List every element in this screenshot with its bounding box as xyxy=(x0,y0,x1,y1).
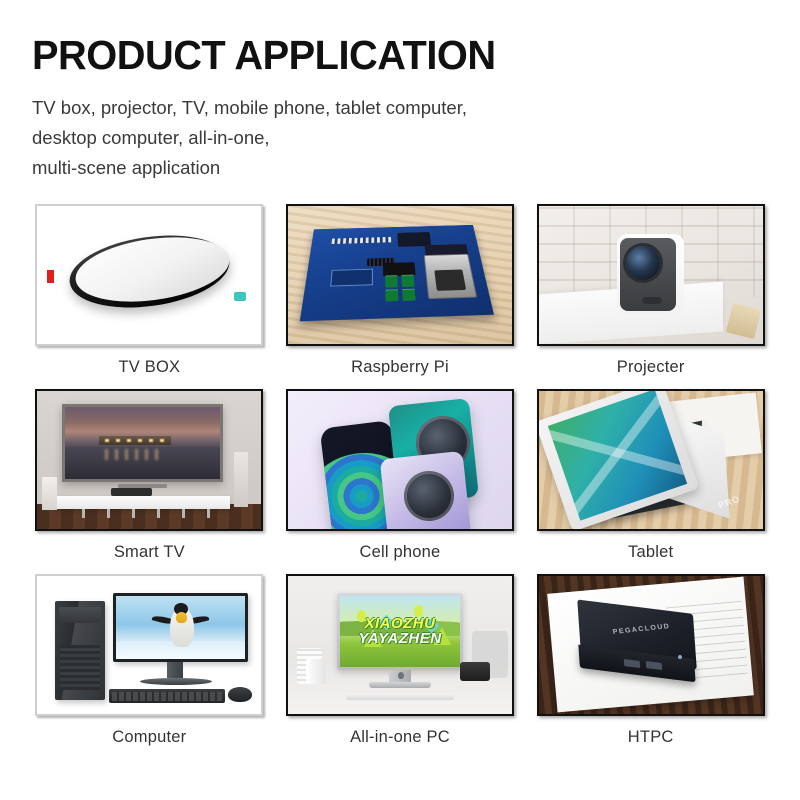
projector-sensor xyxy=(642,297,662,304)
keyboard xyxy=(109,689,225,703)
console-legs xyxy=(60,509,226,519)
tv-box-photo xyxy=(35,204,263,346)
tablet-photo: PRO xyxy=(537,389,765,531)
green-terminal-1 xyxy=(385,276,398,289)
gallery-caption-raspberry-pi: Raspberry Pi xyxy=(351,358,449,377)
pcb-board xyxy=(300,225,494,322)
monitor-stand-base xyxy=(140,678,212,685)
smart-tv-illustration xyxy=(37,391,261,529)
gallery-item-htpc[interactable]: PEGACLOUD HTPC xyxy=(529,574,772,759)
power-led-icon xyxy=(678,655,682,659)
gallery-item-tablet[interactable]: PRO Tablet xyxy=(529,389,772,574)
gallery-caption-tv-box: TV BOX xyxy=(118,358,180,377)
screen-reflection xyxy=(105,449,164,461)
desk-camera xyxy=(460,662,489,681)
smart-tv-photo xyxy=(35,389,263,531)
tv-box-teal-indicator xyxy=(234,292,246,301)
aio-screen-content: XIAOZHU YAYAZHEN xyxy=(340,596,459,667)
cell-phone-illustration xyxy=(288,391,512,529)
gallery-caption-smart-tv: Smart TV xyxy=(114,543,185,562)
application-gallery-grid: TV BOX Raspberry Pi xyxy=(0,204,800,759)
left-speaker xyxy=(42,477,58,510)
board-cutout xyxy=(331,269,373,287)
gallery-caption-htpc: HTPC xyxy=(628,728,674,747)
computer-photo xyxy=(35,574,263,716)
tablet-illustration: PRO xyxy=(539,391,763,529)
htpc-illustration: PEGACLOUD xyxy=(539,576,763,714)
gallery-caption-projector: Projecter xyxy=(617,358,685,377)
gallery-item-raspberry-pi[interactable]: Raspberry Pi xyxy=(279,204,522,389)
all-in-one-illustration: XIAOZHU YAYAZHEN xyxy=(288,576,512,714)
desktop-tower xyxy=(55,601,104,700)
green-terminal-4 xyxy=(402,288,416,301)
green-terminal-2 xyxy=(401,275,414,288)
computer-illustration xyxy=(37,576,261,714)
wooden-object xyxy=(726,303,762,339)
monitor-frame xyxy=(113,593,247,662)
cell-phone-photo xyxy=(286,389,514,531)
subtitle-line-1: TV box, projector, TV, mobile phone, tab… xyxy=(32,93,652,123)
page-title: PRODUCT APPLICATION xyxy=(32,34,777,77)
all-in-one-pc-photo: XIAOZHU YAYAZHEN xyxy=(286,574,514,716)
monitor-screen xyxy=(116,596,244,659)
gallery-caption-all-in-one-pc: All-in-one PC xyxy=(350,728,450,747)
aio-stand-base xyxy=(369,682,432,688)
aio-display-frame: XIAOZHU YAYAZHEN xyxy=(337,593,462,670)
gallery-item-tv-box[interactable]: TV BOX xyxy=(28,204,271,389)
page-header: PRODUCT APPLICATION TV box, projector, T… xyxy=(0,0,800,182)
mouse xyxy=(228,687,253,702)
subtitle-line-3: multi-scene application xyxy=(32,153,652,183)
gpio-header xyxy=(332,237,392,244)
desk-cup xyxy=(306,659,326,684)
gallery-caption-tablet: Tablet xyxy=(628,543,673,562)
gallery-item-all-in-one-pc[interactable]: XIAOZHU YAYAZHEN All-in-one PC xyxy=(279,574,522,759)
page-subtitle: TV box, projector, TV, mobile phone, tab… xyxy=(32,93,652,182)
green-terminal-3 xyxy=(385,289,398,302)
ethernet-port xyxy=(424,254,477,299)
projector-photo xyxy=(537,204,765,346)
aio-screen-headline: XIAOZHU YAYAZHEN xyxy=(358,616,441,646)
raspberry-pi-illustration xyxy=(288,206,512,344)
tv-box-illustration xyxy=(37,206,261,344)
tv-box-red-indicator xyxy=(47,270,54,283)
gallery-caption-computer: Computer xyxy=(112,728,186,747)
gallery-item-smart-tv[interactable]: Smart TV xyxy=(28,389,271,574)
penguin-chest xyxy=(176,612,188,623)
aio-headline-line2: YAYAZHEN xyxy=(358,631,441,646)
right-speaker xyxy=(234,452,247,507)
wallpaper-stroke-2 xyxy=(568,389,670,518)
screen-house-lights xyxy=(105,439,164,442)
gallery-item-computer[interactable]: Computer xyxy=(28,574,271,759)
raspberry-pi-photo xyxy=(286,204,514,346)
gallery-caption-cell-phone: Cell phone xyxy=(360,543,441,562)
htpc-photo: PEGACLOUD xyxy=(537,574,765,716)
apple-logo-icon xyxy=(398,672,404,679)
projector-illustration xyxy=(539,206,763,344)
media-console xyxy=(55,496,230,508)
gallery-item-projector[interactable]: Projecter xyxy=(529,204,772,389)
aio-keyboard xyxy=(346,694,454,701)
gallery-item-cell-phone[interactable]: Cell phone xyxy=(279,389,522,574)
tv-panel xyxy=(62,404,223,483)
tv-screen-content xyxy=(65,407,220,480)
subtitle-line-2: desktop computer, all-in-one, xyxy=(32,123,652,153)
set-top-box xyxy=(111,488,151,496)
monitor-stand-neck xyxy=(167,662,183,679)
